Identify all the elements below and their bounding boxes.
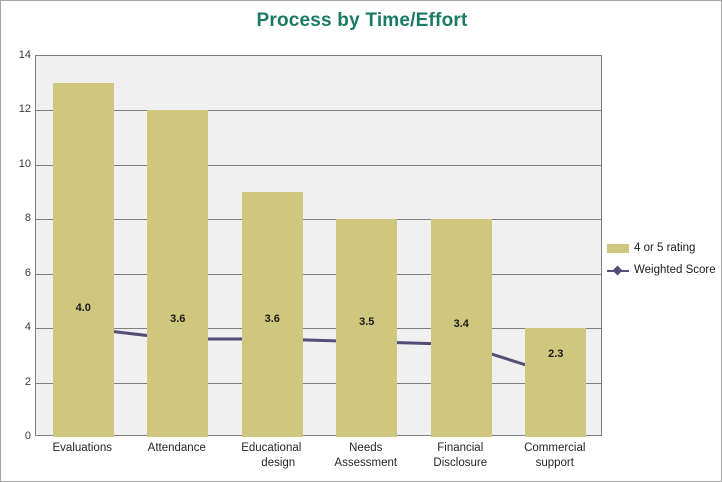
line-series-layer bbox=[36, 56, 603, 437]
point-label-5: 2.3 bbox=[548, 348, 563, 360]
bar-0[interactable] bbox=[53, 83, 114, 437]
point-label-1: 3.6 bbox=[170, 313, 185, 325]
bar-5[interactable] bbox=[525, 328, 586, 437]
x-category-label-1: Attendance bbox=[148, 441, 206, 456]
line-marker-swatch-icon bbox=[607, 266, 629, 275]
bar-swatch-icon bbox=[607, 244, 629, 253]
y-tick-label: 2 bbox=[5, 376, 31, 388]
x-category-label-2: Educationaldesign bbox=[241, 441, 301, 471]
legend-label-line-series: Weighted Score bbox=[634, 264, 716, 276]
bar-3[interactable] bbox=[336, 219, 397, 437]
gridline bbox=[36, 328, 601, 329]
gridline bbox=[36, 383, 601, 384]
x-axis: EvaluationsAttendanceEducationaldesignNe… bbox=[35, 441, 602, 482]
bar-1[interactable] bbox=[147, 110, 208, 437]
x-category-label-0: Evaluations bbox=[53, 441, 112, 456]
chart-legend: 4 or 5 rating Weighted Score bbox=[607, 237, 719, 281]
x-category-label-5: Commercialsupport bbox=[524, 441, 585, 471]
point-label-3: 3.5 bbox=[359, 316, 374, 328]
gridline bbox=[36, 274, 601, 275]
y-tick-label: 4 bbox=[5, 321, 31, 333]
point-label-2: 3.6 bbox=[265, 313, 280, 325]
legend-item-bar-series[interactable]: 4 or 5 rating bbox=[607, 237, 719, 259]
chart-container: Process by Time/Effort 02468101214 4.03.… bbox=[0, 0, 722, 482]
point-label-0: 4.0 bbox=[76, 302, 91, 314]
y-tick-label: 12 bbox=[5, 103, 31, 115]
gridline bbox=[36, 165, 601, 166]
x-category-label-4: FinancialDisclosure bbox=[433, 441, 487, 471]
legend-item-line-series[interactable]: Weighted Score bbox=[607, 259, 719, 281]
y-tick-label: 14 bbox=[5, 49, 31, 61]
point-label-4: 3.4 bbox=[454, 318, 469, 330]
gridline bbox=[36, 219, 601, 220]
chart-title: Process by Time/Effort bbox=[1, 10, 722, 32]
y-tick-label: 10 bbox=[5, 158, 31, 170]
y-tick-label: 8 bbox=[5, 212, 31, 224]
legend-label-bar-series: 4 or 5 rating bbox=[634, 242, 695, 254]
y-tick-label: 6 bbox=[5, 267, 31, 279]
y-tick-label: 0 bbox=[5, 430, 31, 442]
y-axis: 02468101214 bbox=[1, 55, 31, 436]
plot-area: 4.03.63.63.53.42.3 bbox=[35, 55, 602, 436]
gridline bbox=[36, 110, 601, 111]
x-category-label-3: NeedsAssessment bbox=[334, 441, 397, 471]
